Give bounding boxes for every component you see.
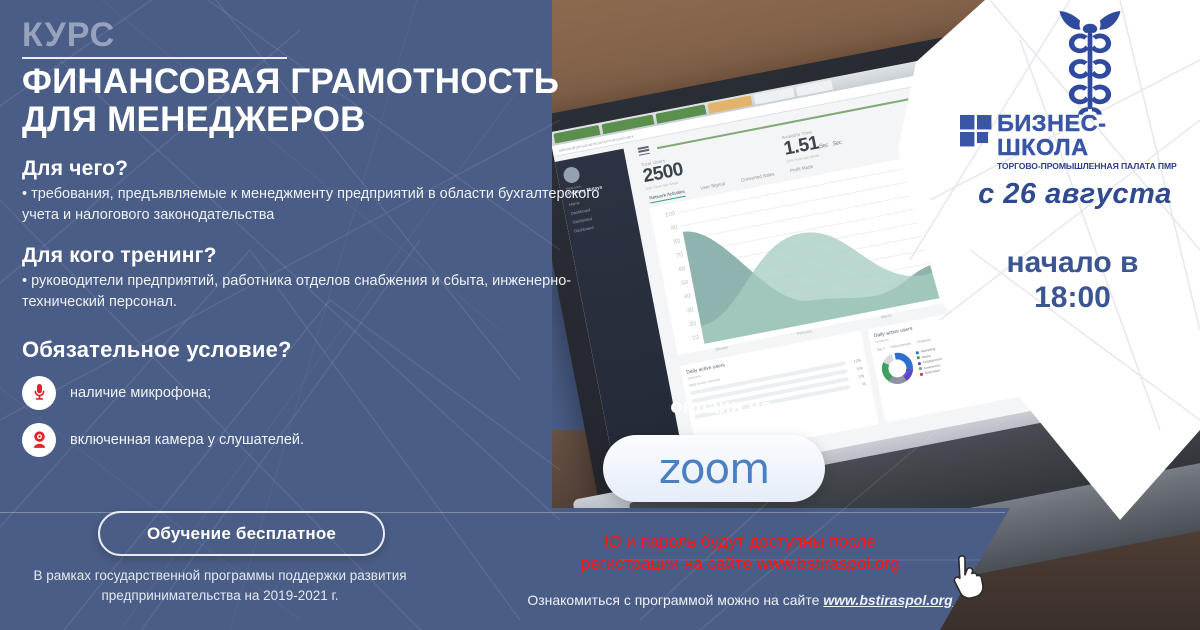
donut-chart <box>878 348 918 388</box>
microphone-icon <box>22 376 56 410</box>
requirement-webcam: включенная камера у слушателей. <box>22 423 632 457</box>
registration-note-line2: регистрации на сайте www.bstiraspol.org <box>480 553 1000 575</box>
title-underline <box>22 57 287 59</box>
four-square-grid-icon <box>960 115 994 149</box>
requirement-label: наличие микрофона; <box>70 385 211 401</box>
page-title: ФИНАНСОВАЯ ГРАМОТНОСТЬ ДЛЯ МЕНЕДЖЕРОВ <box>22 63 632 139</box>
hamburger-menu-icon[interactable] <box>638 146 650 156</box>
svg-text:40: 40 <box>684 293 692 300</box>
svg-text:20: 20 <box>689 321 697 328</box>
start-time: 18:00 <box>950 280 1195 315</box>
tab-profit-made[interactable]: Profit Made <box>790 164 815 176</box>
section-purpose: Для чего? • требования, предъявляемые к … <box>22 157 632 226</box>
section-audience: Для кого тренинг? • руководители предпри… <box>22 244 632 313</box>
caduceus-icon <box>1040 8 1140 118</box>
course-date: с 26 августа <box>955 178 1195 211</box>
zoom-logo-pill[interactable]: zoom <box>603 435 825 502</box>
start-label: начало в <box>950 245 1195 280</box>
page-title-line1: ФИНАНСОВАЯ ГРАМОТНОСТЬ <box>22 63 632 101</box>
registration-note-line1: ID и пароль будут доступны после <box>480 531 1000 553</box>
svg-text:90: 90 <box>670 225 678 232</box>
page-title-line2: ДЛЯ МЕНЕДЖЕРОВ <box>22 101 632 139</box>
svg-text:30: 30 <box>686 307 694 314</box>
brand-subtitle: ТОРГОВО-ПРОМЫШЛЕННАЯ ПАЛАТА ПМР <box>997 161 1192 171</box>
free-training-badge[interactable]: Обучение бесплатное <box>98 511 385 556</box>
government-program-note: В рамках государственной программы подде… <box>0 566 440 607</box>
program-info: Ознакомиться с программой можно на сайте… <box>470 592 1010 608</box>
svg-text:60: 60 <box>678 266 686 273</box>
course-start-time: начало в 18:00 <box>950 245 1195 316</box>
brand-name: БИЗНЕС-ШКОЛА <box>997 112 1192 159</box>
online-label: онлайн на <box>596 396 846 419</box>
program-info-prefix: Ознакомиться с программой можно на сайте <box>527 592 823 608</box>
svg-text:80: 80 <box>673 238 681 245</box>
conditions-heading: Обязательное условие? <box>22 337 632 363</box>
brand-logo: БИЗНЕС-ШКОЛА ТОРГОВО-ПРОМЫШЛЕННАЯ ПАЛАТА… <box>960 112 1192 171</box>
program-site-link[interactable]: www.bstiraspol.org <box>823 592 952 608</box>
svg-text:100: 100 <box>665 211 677 219</box>
webcam-icon <box>22 423 56 457</box>
section-heading: Для чего? <box>22 157 632 181</box>
hand-cursor-icon <box>948 555 988 601</box>
section-body: • требования, предъявляемые к менеджмент… <box>22 184 612 226</box>
svg-text:50: 50 <box>681 280 689 287</box>
banner-root: shboard/persona/reports/choices/index We… <box>0 0 1200 630</box>
section-body: • руководители предприятий, работника от… <box>22 271 612 313</box>
svg-text:70: 70 <box>676 252 684 259</box>
registration-note: ID и пароль будут доступны после регистр… <box>480 531 1000 576</box>
requirement-label: включенная камера у слушателей. <box>70 432 304 448</box>
zoom-logo: zoom <box>659 444 769 493</box>
svg-text:10: 10 <box>692 335 700 342</box>
tab-user-signup[interactable]: User Signup <box>700 181 726 194</box>
requirement-microphone: наличие микрофона; <box>22 376 632 410</box>
eyebrow-kurs: КУРС <box>22 18 632 52</box>
section-heading: Для кого тренинг? <box>22 244 632 268</box>
left-content: КУРС ФИНАНСОВАЯ ГРАМОТНОСТЬ ДЛЯ МЕНЕДЖЕР… <box>22 18 632 457</box>
